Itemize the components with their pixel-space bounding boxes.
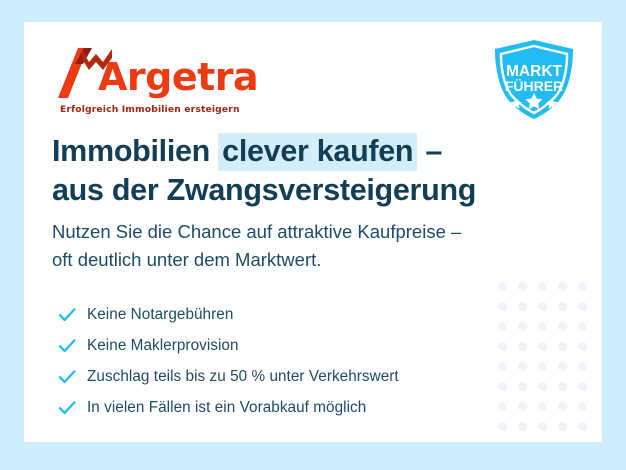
check-icon <box>54 364 80 390</box>
decoration-dot <box>538 422 547 431</box>
decoration-dot <box>538 362 547 371</box>
headline-post: – <box>417 134 442 168</box>
headline-line-1: Immobilien clever kaufen – <box>52 132 572 171</box>
decoration-dot <box>538 342 547 351</box>
decoration-dot <box>538 402 547 411</box>
list-item-label: Keine Notargebühren <box>87 306 233 324</box>
benefits-list: Keine NotargebührenKeine Maklerprovision… <box>54 299 524 423</box>
decoration-dot <box>578 362 587 371</box>
decoration-dot <box>578 382 587 391</box>
decoration-dot <box>558 302 567 311</box>
decoration-dot <box>558 362 567 371</box>
decoration-dot <box>498 422 507 431</box>
logo-wordmark: Argetra <box>98 58 258 96</box>
decoration-dot <box>558 322 567 331</box>
headline-pre: Immobilien <box>52 134 218 168</box>
decoration-dot <box>558 382 567 391</box>
list-item-label: Keine Maklerprovision <box>87 337 239 355</box>
decoration-dot <box>558 422 567 431</box>
subtitle: Nutzen Sie die Chance auf attraktive Kau… <box>52 218 552 274</box>
decoration-dot <box>558 402 567 411</box>
subtitle-line-2: oft deutlich unter dem Marktwert. <box>52 246 552 274</box>
market-leader-badge: MARKT FÜHRER <box>489 38 579 122</box>
decoration-dot <box>538 322 547 331</box>
decoration-dot <box>518 282 527 291</box>
check-icon <box>54 395 80 421</box>
argetra-logo[interactable]: Argetra Erfolgreich Immobilien ersteiger… <box>58 44 258 124</box>
decoration-dot <box>538 382 547 391</box>
check-icon <box>54 302 80 328</box>
list-item: In vielen Fällen ist ein Vorabkauf mögli… <box>54 392 524 423</box>
headline-highlight: clever kaufen <box>218 133 417 171</box>
decoration-dot <box>578 402 587 411</box>
decoration-dot <box>578 282 587 291</box>
list-item-label: In vielen Fällen ist ein Vorabkauf mögli… <box>87 399 366 417</box>
check-icon <box>54 333 80 359</box>
decoration-dot <box>558 342 567 351</box>
decoration-dot <box>578 322 587 331</box>
list-item-label: Zuschlag teils bis zu 50 % unter Verkehr… <box>87 368 399 386</box>
page-title: Immobilien clever kaufen – aus der Zwang… <box>52 132 572 210</box>
badge-line2: FÜHRER <box>505 78 563 94</box>
list-item: Zuschlag teils bis zu 50 % unter Verkehr… <box>54 361 524 392</box>
decoration-dot <box>538 282 547 291</box>
banner-card: Argetra Erfolgreich Immobilien ersteiger… <box>24 22 602 442</box>
list-item: Keine Maklerprovision <box>54 330 524 361</box>
decoration-dot <box>578 422 587 431</box>
list-item: Keine Notargebühren <box>54 299 524 330</box>
decoration-dot <box>578 342 587 351</box>
decoration-dot <box>558 282 567 291</box>
subtitle-line-1: Nutzen Sie die Chance auf attraktive Kau… <box>52 218 552 246</box>
logo-tagline: Erfolgreich Immobilien ersteigern <box>60 104 240 115</box>
promo-banner: Argetra Erfolgreich Immobilien ersteiger… <box>0 0 626 470</box>
headline-line-2: aus der Zwangsversteigerung <box>52 171 572 210</box>
decoration-dot <box>578 302 587 311</box>
decoration-dot <box>498 282 507 291</box>
decoration-dot <box>538 302 547 311</box>
decoration-dot <box>518 422 527 431</box>
